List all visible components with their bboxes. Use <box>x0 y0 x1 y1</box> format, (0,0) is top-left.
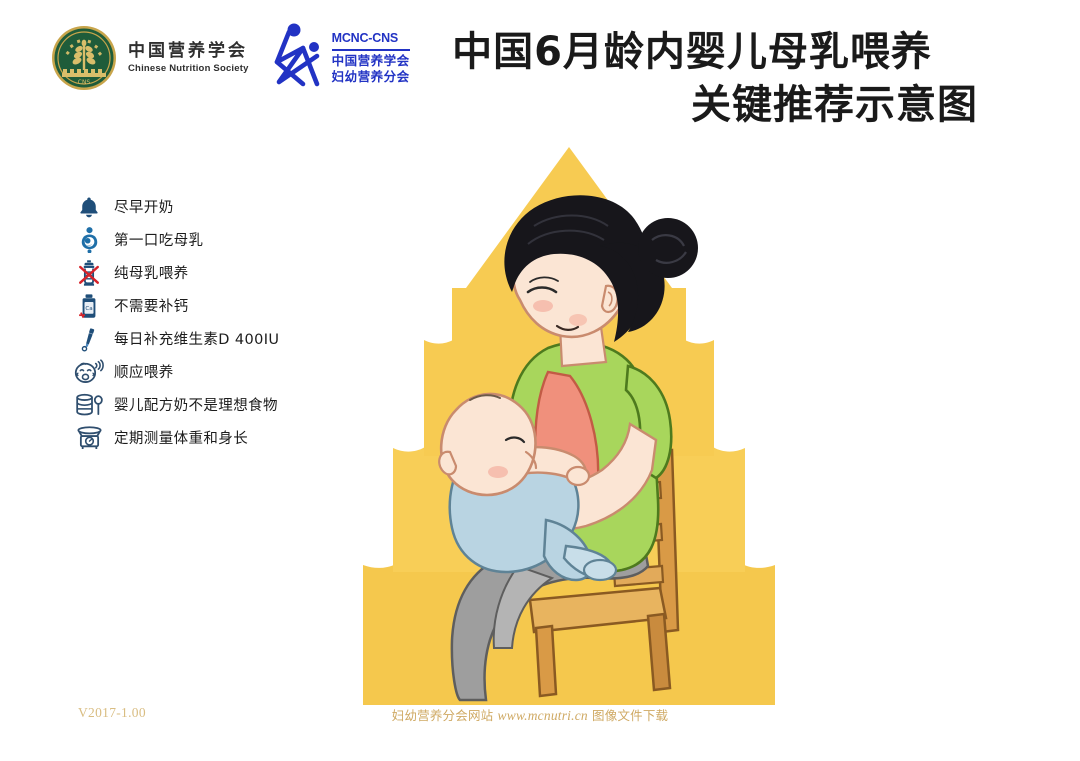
list-item-label: 定期测量体重和身长 <box>114 427 248 448</box>
list-item-label: 顺应喂养 <box>114 361 174 382</box>
list-item: Ca 不需要补钙 <box>72 289 342 322</box>
formula-can-scoop-icon <box>72 390 106 420</box>
svg-text:Ca: Ca <box>85 305 92 311</box>
list-item-label: 每日补充维生素D 400IU <box>114 328 279 349</box>
list-item: 每日补充维生素D 400IU <box>72 322 342 355</box>
footer-download-note: 妇幼营养分会网站 www.mcnutri.cn 图像文件下载 <box>0 705 1080 724</box>
page-title: 中国6月龄内婴儿母乳喂养 关键推荐示意图 <box>400 26 990 132</box>
list-item-label: 第一口吃母乳 <box>114 229 203 250</box>
recommendation-list: 尽早开奶 第一口吃母乳 <box>72 190 342 454</box>
title-line-2: 关键推荐示意图 <box>400 79 990 132</box>
footer-site-suffix: 图像文件下载 <box>592 708 668 723</box>
list-item: 顺应喂养 <box>72 355 342 388</box>
baby-scale-icon <box>72 423 106 453</box>
list-item: 尽早开奶 <box>72 190 342 223</box>
bell-icon <box>72 192 106 222</box>
list-item-label: 婴儿配方奶不是理想食物 <box>114 394 278 415</box>
poster-canvas: CNS 中国营养学会 Chinese Nutrition Society MCN… <box>0 0 1080 761</box>
breastfeeding-mother-icon <box>72 225 106 255</box>
list-item-label: 不需要补钙 <box>114 295 189 316</box>
crying-baby-face-icon <box>72 357 106 387</box>
title-line-1: 中国6月龄内婴儿母乳喂养 <box>400 26 990 79</box>
list-item-label: 纯母乳喂养 <box>114 262 189 283</box>
footer-site-prefix: 妇幼营养分会网站 <box>392 708 494 723</box>
dropper-icon <box>72 324 106 354</box>
calcium-bottle-icon: Ca <box>72 291 106 321</box>
list-item: 婴儿配方奶不是理想食物 <box>72 388 342 421</box>
no-bottle-icon <box>72 258 106 288</box>
list-item: 定期测量体重和身长 <box>72 421 342 454</box>
list-item: 纯母乳喂养 <box>72 256 342 289</box>
footer-site-url: www.mcnutri.cn <box>498 708 588 723</box>
list-item: 第一口吃母乳 <box>72 223 342 256</box>
list-item-label: 尽早开奶 <box>114 196 174 217</box>
